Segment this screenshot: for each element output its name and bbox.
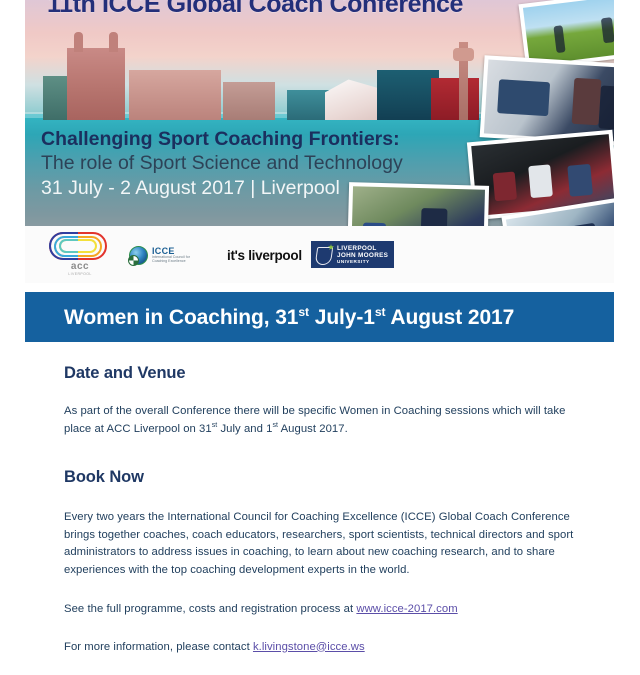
women-in-coaching-title: Women in Coaching, 31st July-1st August … bbox=[64, 305, 514, 330]
ljmu-crest-icon bbox=[314, 244, 334, 265]
acc-rings-icon bbox=[49, 232, 107, 260]
ljmu-logo-line-3: UNIVERSITY bbox=[337, 259, 388, 264]
programme-link[interactable]: www.icce-2017.com bbox=[356, 603, 457, 615]
programme-text: See the full programme, costs and regist… bbox=[64, 603, 356, 615]
liver-building-icon bbox=[67, 48, 125, 120]
acc-liverpool-logo: acc LIVERPOOL bbox=[49, 232, 111, 280]
skyline-pier-head bbox=[129, 70, 221, 120]
photo-collage bbox=[340, 0, 614, 238]
date-venue-text-c: August 2017. bbox=[278, 423, 348, 435]
poster-body-content: Date and Venue As part of the overall Co… bbox=[64, 364, 576, 656]
contact-paragraph: For more information, please contact k.l… bbox=[64, 639, 576, 657]
poster-page: 11th ICCE Global Coach Conference Challe… bbox=[0, 0, 640, 675]
skyline-building-green bbox=[43, 76, 69, 120]
book-now-heading: Book Now bbox=[64, 468, 576, 487]
acc-logo-sublabel: LIVERPOOL bbox=[49, 272, 111, 276]
band-title-after: August 2017 bbox=[385, 306, 514, 329]
icce-logo: ICCE International Council for Coaching … bbox=[129, 240, 209, 270]
band-title-sup-1: st bbox=[298, 305, 309, 319]
globe-football-icon bbox=[129, 246, 148, 265]
programme-paragraph: See the full programme, costs and regist… bbox=[64, 601, 576, 619]
skyline-building-teal bbox=[287, 90, 329, 120]
banner-dates-location: 31 July - 2 August 2017 | Liverpool bbox=[41, 177, 340, 200]
band-title-mid: July-1 bbox=[309, 306, 375, 329]
skyline-building-modern bbox=[223, 82, 275, 120]
date-and-venue-paragraph: As part of the overall Conference there … bbox=[64, 403, 576, 438]
women-in-coaching-banner: Women in Coaching, 31st July-1st August … bbox=[25, 292, 614, 342]
ljmu-logo-line-2: JOHN MOORES bbox=[337, 252, 388, 259]
icce-logo-tagline-2: Coaching Excellence bbox=[152, 260, 190, 264]
date-and-venue-heading: Date and Venue bbox=[64, 364, 576, 383]
date-venue-text-b: July and 1 bbox=[217, 423, 272, 435]
contact-text: For more information, please contact bbox=[64, 641, 253, 653]
contact-email-link[interactable]: k.livingstone@icce.ws bbox=[253, 641, 365, 653]
acc-logo-label: acc bbox=[49, 261, 111, 272]
book-now-paragraph: Every two years the International Counci… bbox=[64, 509, 576, 579]
its-liverpool-logo: it's liverpool bbox=[227, 248, 302, 263]
sponsor-logos: acc LIVERPOOL ICCE International Council… bbox=[25, 226, 614, 283]
conference-banner: 11th ICCE Global Coach Conference Challe… bbox=[25, 0, 614, 283]
liverpool-john-moores-university-logo: LIVERPOOL JOHN MOORES UNIVERSITY bbox=[311, 241, 394, 268]
band-title-sup-2: st bbox=[375, 305, 386, 319]
band-title-before: Women in Coaching, 31 bbox=[64, 306, 298, 329]
ljmu-logo-line-1: LIVERPOOL bbox=[337, 245, 388, 252]
